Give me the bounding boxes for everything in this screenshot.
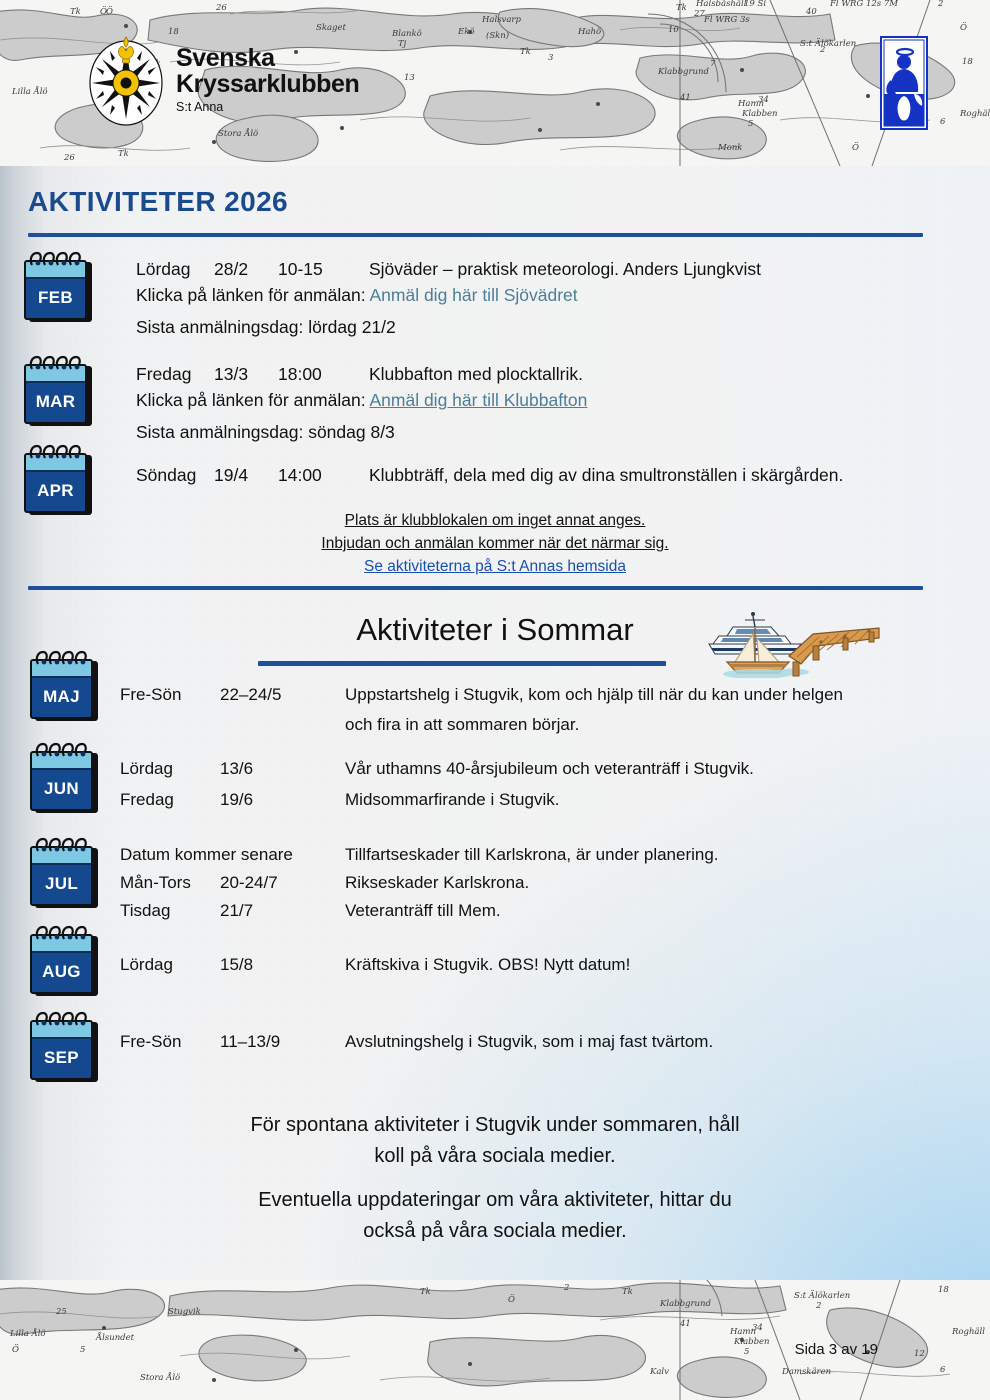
- row-description: Uppstartshelg i Stugvik, kom och hjälp t…: [345, 680, 843, 710]
- event-line: Lördag28/210-15Sjöväder – praktisk meteo…: [136, 256, 761, 282]
- summer-row-sep: Fre-Sön 11–13/9 Avslutningshelg i Stugvi…: [120, 1027, 980, 1057]
- calendar-card: SEP: [30, 1020, 93, 1080]
- logo-line-3: S:t Anna: [176, 101, 359, 114]
- svg-text:Roghäll: Roghäll: [951, 1327, 985, 1337]
- svg-text:Blankö: Blankö: [391, 29, 422, 39]
- row-description: Tillfartseskader till Karlskrona, är und…: [345, 840, 719, 870]
- svg-text:2: 2: [563, 1283, 569, 1293]
- summer-row-jul: Datum kommer senare Tillfartseskader til…: [120, 840, 980, 924]
- calendar-card: MAR: [24, 364, 87, 424]
- event-date: 13/3: [214, 361, 278, 387]
- svg-text:Stora Ålö: Stora Ålö: [218, 127, 258, 139]
- logo-line-2: Kryssarklubben: [176, 72, 359, 97]
- calendar-rings-icon: [33, 923, 90, 943]
- event-time: 14:00: [278, 462, 369, 488]
- row-day: Mån-Tors: [120, 868, 191, 898]
- calendar-card: AUG: [30, 934, 93, 994]
- svg-text:Lilla Ålö: Lilla Ålö: [9, 1327, 46, 1339]
- summer-heading-underline: [258, 661, 666, 666]
- calendar-month-label: SEP: [32, 1048, 91, 1068]
- summer-row-maj: Fre-Sön 22–24/5 Uppstartshelg i Stugvik,…: [120, 680, 980, 740]
- svg-text:6: 6: [940, 1365, 946, 1375]
- svg-text:Klabbgrund: Klabbgrund: [657, 67, 709, 77]
- svg-text:40: 40: [805, 7, 817, 17]
- event-block-apr: Söndag19/414:00Klubbträff, dela med dig …: [136, 462, 843, 488]
- event-day: Fredag: [136, 361, 214, 387]
- note-line: Inbjudan och anmälan kommer när det närm…: [0, 532, 990, 555]
- event-description: Klubbträff, dela med dig av dina smultro…: [369, 465, 843, 485]
- svg-text:Stugvik: Stugvik: [168, 1307, 201, 1317]
- row-description: Vår uthamns 40-årsjubileum och veterantr…: [345, 754, 754, 784]
- svg-text:7: 7: [710, 59, 716, 69]
- event-deadline-line: Sista anmälningsdag: söndag 8/3: [136, 419, 587, 445]
- svg-text:Ö: Ö: [12, 1343, 19, 1355]
- event-day: Lördag: [136, 256, 214, 282]
- calendar-icon-aug: AUG: [30, 930, 102, 998]
- svg-text:3: 3: [548, 53, 553, 63]
- svg-text:Halsbåshäll: Halsbåshäll: [695, 0, 747, 9]
- activity-calendar-page: Lilla ÅlöTk Ö26 18Skaget BlanköTj EköHal…: [0, 0, 990, 1400]
- row-date: 11–13/9: [220, 1027, 280, 1057]
- calendar-month-label: JUL: [32, 874, 91, 894]
- note-line: Plats är klubblokalen om inget annat ang…: [0, 509, 990, 532]
- row-description: Midsommarfirande i Stugvik.: [345, 785, 559, 815]
- calendar-rings-icon: [33, 648, 90, 668]
- svg-text:41: 41: [679, 93, 691, 103]
- svg-text:Ekö: Ekö: [457, 27, 474, 37]
- svg-text:Klabben: Klabben: [733, 1337, 770, 1347]
- calendar-month-label: MAR: [26, 392, 85, 412]
- section-divider: [28, 586, 923, 590]
- event-deadline-line: Sista anmälningsdag: lördag 21/2: [136, 314, 761, 340]
- svg-text:Fl WRG 3s: Fl WRG 3s: [703, 15, 750, 25]
- svg-text:26: 26: [215, 3, 227, 13]
- row-description: Avslutningshelg i Stugvik, som i maj fas…: [345, 1027, 713, 1057]
- calendar-icon-jun: JUN: [30, 747, 102, 815]
- event-link-prefix: Klicka på länken för anmälan:: [136, 285, 369, 305]
- calendar-card: MAJ: [30, 659, 93, 719]
- svg-text:6: 6: [940, 117, 946, 127]
- svg-text:Tk: Tk: [676, 3, 687, 13]
- svg-text:Halsvarp: Halsvarp: [481, 15, 521, 25]
- row-description: Rikseskader Karlskrona.: [345, 868, 529, 898]
- event-link-line: Klicka på länken för anmälan: Anmäl dig …: [136, 387, 587, 413]
- row-day: Fre-Sön: [120, 680, 181, 710]
- svg-text:Monk: Monk: [717, 143, 742, 153]
- row-day: Lördag: [120, 950, 173, 980]
- svg-text:Ö: Ö: [852, 141, 859, 153]
- svg-text:18: 18: [938, 1285, 949, 1295]
- calendar-icon-jul: JUL: [30, 842, 102, 910]
- svg-text:Tk: Tk: [622, 1287, 633, 1297]
- svg-text:Ålsundet: Ålsundet: [95, 1331, 135, 1343]
- row-date: 21/7: [220, 896, 253, 926]
- calendar-month-label: AUG: [32, 962, 91, 982]
- summer-row-aug: Lördag 15/8 Kräftskiva i Stugvik. OBS! N…: [120, 950, 980, 980]
- svg-text:Stora Ålö: Stora Ålö: [140, 1371, 180, 1383]
- calendar-icon-sep: SEP: [30, 1016, 102, 1084]
- svg-text:Tk: Tk: [520, 47, 531, 57]
- svg-text:5: 5: [748, 119, 753, 129]
- event-day: Söndag: [136, 462, 214, 488]
- calendar-rings-icon: [27, 249, 84, 269]
- svg-text:Hahö: Hahö: [577, 27, 601, 37]
- svg-text:26: 26: [63, 153, 75, 163]
- event-date: 19/4: [214, 462, 278, 488]
- calendar-rings-icon: [27, 442, 84, 462]
- registration-link-klubbafton[interactable]: Anmäl dig här till Klubbafton: [369, 390, 587, 410]
- calendar-rings-icon: [27, 353, 84, 373]
- svg-text:18: 18: [962, 57, 973, 67]
- svg-text:Kalv: Kalv: [649, 1367, 669, 1377]
- svg-text:5: 5: [744, 1347, 749, 1357]
- row-day: Lördag: [120, 754, 173, 784]
- compass-rose-icon: [88, 33, 164, 127]
- event-block-mar: Fredag13/318:00Klubbafton med plocktallr…: [136, 361, 587, 445]
- boat-and-dock-illustration: [693, 600, 883, 678]
- svg-text:2: 2: [815, 1301, 821, 1311]
- calendar-month-label: JUN: [32, 779, 91, 799]
- svg-text:Tj: Tj: [398, 39, 407, 49]
- svg-text:Klabben: Klabben: [741, 109, 778, 119]
- event-line: Fredag13/318:00Klubbafton med plocktallr…: [136, 361, 587, 387]
- page-title: AKTIVITETER 2026: [28, 186, 288, 218]
- svg-text:Tk: Tk: [70, 7, 81, 17]
- closing-line: också på våra sociala medier.: [0, 1216, 990, 1247]
- logo-line-1: Svenska: [176, 46, 359, 71]
- saint-anna-badge-icon: [880, 36, 928, 130]
- event-time: 10-15: [278, 256, 369, 282]
- row-date: 22–24/5: [220, 680, 281, 710]
- row-description: Veteranträff till Mem.: [345, 896, 501, 926]
- closing-paragraph-1: För spontana aktiviteter i Stugvik under…: [0, 1110, 990, 1172]
- svg-text:19 Si: 19 Si: [744, 0, 766, 9]
- calendar-month-label: FEB: [26, 288, 85, 308]
- closing-line: För spontana aktiviteter i Stugvik under…: [0, 1110, 990, 1141]
- event-description: Sjöväder – praktisk meteorologi. Anders …: [369, 259, 761, 279]
- svg-text:Tk: Tk: [420, 1287, 431, 1297]
- event-link-line: Klicka på länken för anmälan: Anmäl dig …: [136, 282, 761, 308]
- svg-text:Roghäll: Roghäll: [959, 109, 990, 119]
- row-day: Fredag: [120, 785, 174, 815]
- calendar-rings-icon: [33, 1009, 90, 1029]
- calendar-icon-maj: MAJ: [30, 655, 102, 723]
- nautical-chart-background: Lilla ÅlöÖ 255 ÅlsundetStugvik Stora Ålö…: [0, 1280, 990, 1400]
- row-day: Datum kommer senare: [120, 840, 293, 870]
- calendar-icon-apr: APR: [24, 449, 96, 517]
- svg-text:12: 12: [914, 1349, 925, 1359]
- summer-row-jun: Lördag 13/6 Vår uthamns 40-årsjubileum o…: [120, 754, 980, 816]
- calendar-rings-icon: [33, 835, 90, 855]
- svg-text:2: 2: [819, 45, 825, 55]
- svg-text:Ö: Ö: [106, 5, 113, 17]
- row-date: 20-24/7: [220, 868, 278, 898]
- svg-text:(Skn): (Skn): [486, 30, 509, 41]
- calendar-month-label: APR: [26, 481, 85, 501]
- header-chart-band: Lilla ÅlöTk Ö26 18Skaget BlanköTj EköHal…: [0, 0, 990, 166]
- svg-text:2: 2: [937, 0, 943, 9]
- svg-text:Damskären: Damskären: [781, 1367, 831, 1377]
- calendar-month-label: MAJ: [32, 687, 91, 707]
- row-date: 13/6: [220, 754, 253, 784]
- row-date: 15/8: [220, 950, 253, 980]
- svg-text:34: 34: [752, 1323, 763, 1333]
- calendar-card: FEB: [24, 260, 87, 320]
- event-description: Klubbafton med plocktallrik.: [369, 364, 583, 384]
- registration-link-sjovadret[interactable]: Anmäl dig här till Sjövädret: [369, 285, 577, 305]
- event-link-prefix: Klicka på länken för anmälan:: [136, 390, 369, 410]
- svg-text:34: 34: [758, 95, 769, 105]
- footer-chart-band: Lilla ÅlöÖ 255 ÅlsundetStugvik Stora Ålö…: [0, 1280, 990, 1400]
- row-day: Fre-Sön: [120, 1027, 181, 1057]
- svg-text:25: 25: [55, 1307, 67, 1317]
- calendar-icon-feb: FEB: [24, 256, 96, 324]
- row-description: och fira in att sommaren börjar.: [345, 710, 579, 740]
- svg-text:Ö: Ö: [508, 1293, 515, 1305]
- svg-text:Tk: Tk: [118, 149, 129, 159]
- svg-text:Fl WRG 12s 7M: Fl WRG 12s 7M: [829, 0, 898, 9]
- closing-line: koll på våra sociala medier.: [0, 1141, 990, 1172]
- logo-wordmark: Svenska Kryssarklubben S:t Anna: [176, 46, 359, 114]
- svg-text:13: 13: [404, 73, 415, 83]
- svg-text:S:t Älökarlen: S:t Älökarlen: [794, 1289, 850, 1301]
- event-date: 28/2: [214, 256, 278, 282]
- calendar-card: APR: [24, 453, 87, 513]
- svg-text:5: 5: [80, 1345, 85, 1355]
- svg-text:10: 10: [668, 25, 679, 35]
- event-line: Söndag19/414:00Klubbträff, dela med dig …: [136, 462, 843, 488]
- title-divider: [28, 233, 923, 237]
- svg-text:Skaget: Skaget: [316, 23, 347, 33]
- event-time: 18:00: [278, 361, 369, 387]
- event-block-feb: Lördag28/210-15Sjöväder – praktisk meteo…: [136, 256, 761, 340]
- svg-text:S:t Älökarlen: S:t Älökarlen: [800, 37, 856, 49]
- svg-text:Klabbgrund: Klabbgrund: [659, 1299, 711, 1309]
- closing-paragraph-2: Eventuella uppdateringar om våra aktivit…: [0, 1185, 990, 1247]
- page-number-label: Sida 3 av 19: [795, 1341, 878, 1358]
- svg-text:Ö: Ö: [960, 21, 967, 33]
- club-logo: Svenska Kryssarklubben S:t Anna: [88, 33, 359, 127]
- svg-text:Lilla Ålö: Lilla Ålö: [11, 85, 48, 97]
- row-date: 19/6: [220, 785, 253, 815]
- closing-line: Eventuella uppdateringar om våra aktivit…: [0, 1185, 990, 1216]
- row-description: Kräftskiva i Stugvik. OBS! Nytt datum!: [345, 950, 630, 980]
- calendar-card: JUL: [30, 846, 93, 906]
- notes-block: Plats är klubblokalen om inget annat ang…: [0, 509, 990, 578]
- saint-anna-website-link[interactable]: Se aktiviteterna på S:t Annas hemsida: [0, 555, 990, 578]
- calendar-card: JUN: [30, 751, 93, 811]
- calendar-rings-icon: [33, 740, 90, 760]
- svg-text:41: 41: [679, 1319, 691, 1329]
- calendar-icon-mar: MAR: [24, 360, 96, 428]
- row-day: Tisdag: [120, 896, 170, 926]
